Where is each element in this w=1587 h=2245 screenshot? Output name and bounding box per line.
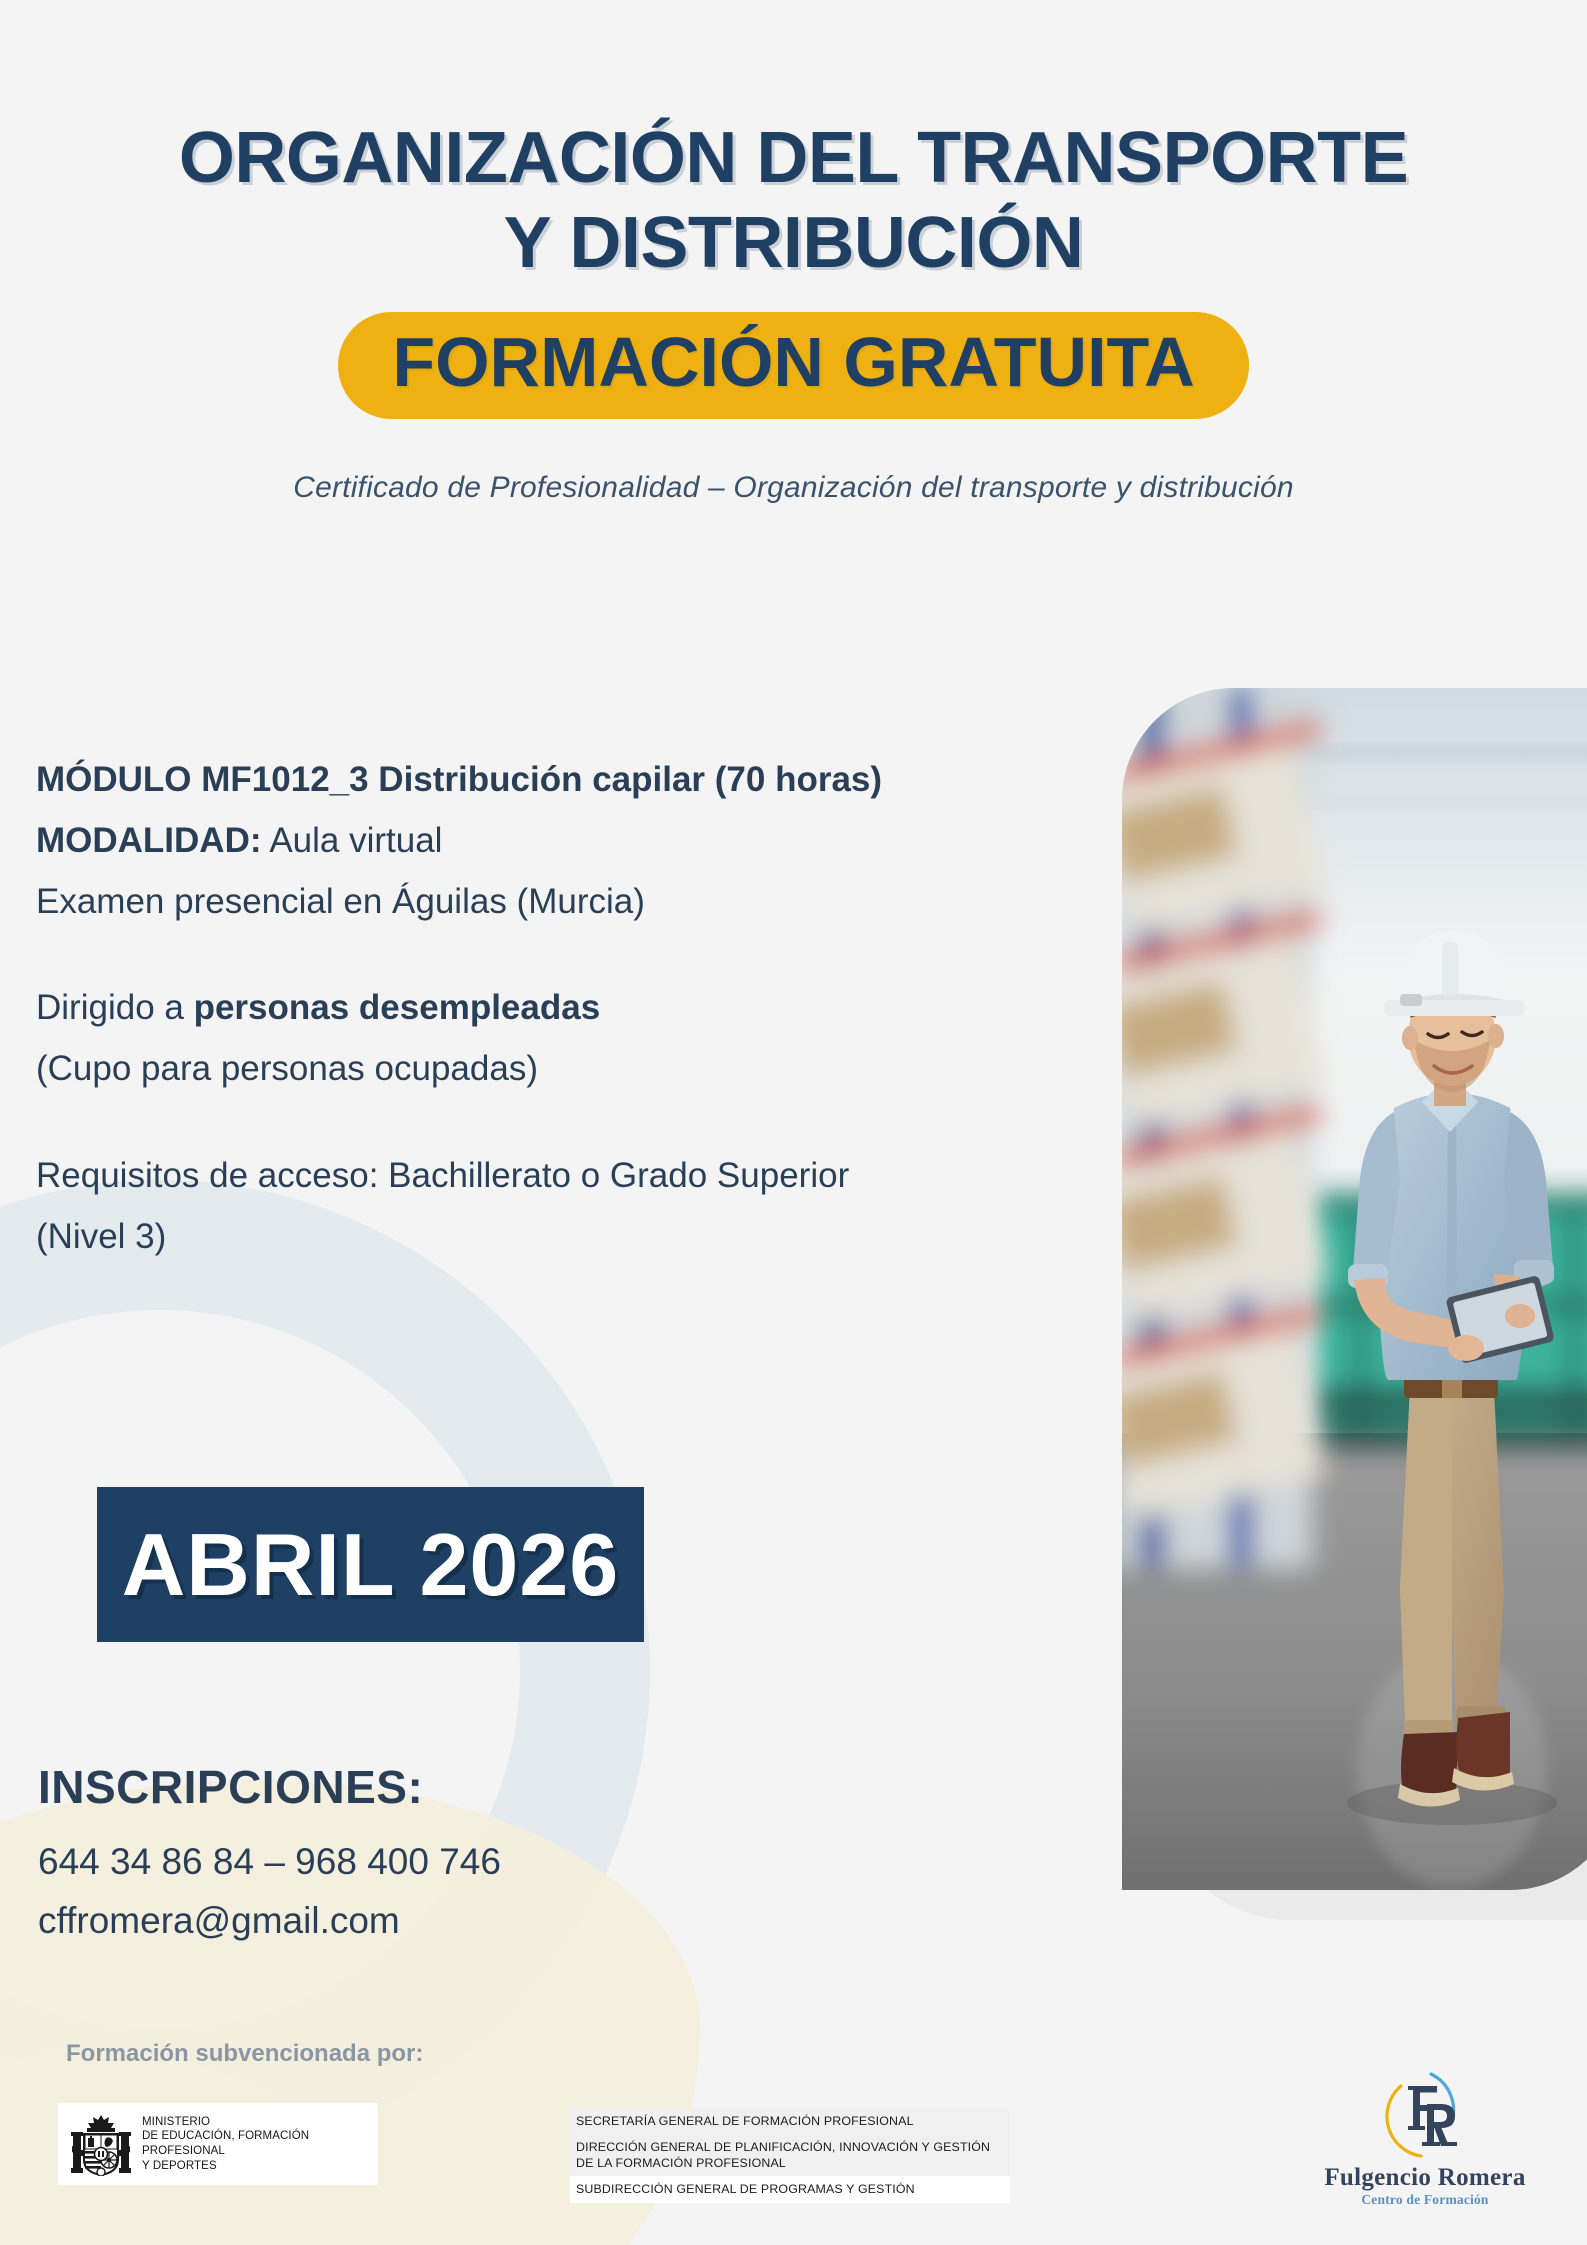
secretariat-line: SUBDIRECCIÓN GENERAL DE PROGRAMAS Y GEST… — [570, 2176, 1010, 2202]
page-title: ORGANIZACIÓN DEL TRANSPORTE Y DISTRIBUCI… — [0, 0, 1587, 286]
enrollment-section: INSCRIPCIONES: 644 34 86 84 – 968 400 74… — [38, 1760, 938, 1954]
logo-tagline: Centro de Formación — [1300, 2192, 1550, 2208]
modality-line: MODALIDAD: Aula virtual — [36, 816, 1096, 867]
secretariat-line: DIRECCIÓN GENERAL DE PLANIFICACIÓN, INNO… — [570, 2134, 1010, 2176]
audience-note: (Cupo para personas ocupadas) — [36, 1044, 1096, 1095]
audience-prefix: Dirigido a — [36, 988, 194, 1027]
course-details: MÓDULO MF1012_3 Distribución capilar (70… — [36, 755, 1096, 1278]
logo-company-name: Fulgencio Romera — [1300, 2164, 1550, 2192]
photo-illustration — [1122, 688, 1587, 1890]
exam-line: Examen presencial en Águilas (Murcia) — [36, 877, 1096, 928]
free-training-badge-wrap: FORMACIÓN GRATUITA — [0, 312, 1587, 419]
secretariat-line: SECRETARÍA GENERAL DE FORMACIÓN PROFESIO… — [570, 2108, 1010, 2134]
phone-numbers[interactable]: 644 34 86 84 – 968 400 746 — [38, 1836, 938, 1887]
fr-monogram-icon — [1365, 2070, 1485, 2162]
poster-header: ORGANIZACIÓN DEL TRANSPORTE Y DISTRIBUCI… — [0, 0, 1587, 505]
audience-line: Dirigido a personas desempleadas — [36, 983, 1096, 1034]
free-training-badge: FORMACIÓN GRATUITA — [338, 312, 1248, 419]
modality-value: Aula virtual — [262, 821, 443, 860]
secretariat-block: SECRETARÍA GENERAL DE FORMACIÓN PROFESIO… — [570, 2108, 1010, 2203]
email-address[interactable]: cffromera@gmail.com — [38, 1895, 938, 1946]
modality-label: MODALIDAD: — [36, 821, 262, 860]
decorative-blue-ring — [0, 1180, 650, 2160]
warehouse-worker-photo — [1122, 688, 1587, 1890]
start-date-text: ABRIL 2026 — [122, 1514, 619, 1616]
ministry-logo: MINISTERIO DE EDUCACIÓN, FORMACIÓN PROFE… — [58, 2103, 378, 2185]
module-line: MÓDULO MF1012_3 Distribución capilar (70… — [36, 755, 1096, 806]
audience-highlight: personas desempleadas — [194, 988, 601, 1027]
enrollment-heading: INSCRIPCIONES: — [38, 1760, 938, 1814]
spain-coat-of-arms-icon — [70, 2112, 132, 2176]
poster: ORGANIZACIÓN DEL TRANSPORTE Y DISTRIBUCI… — [0, 0, 1587, 2245]
ministry-name: MINISTERIO DE EDUCACIÓN, FORMACIÓN PROFE… — [142, 2115, 378, 2174]
requirements-line: Requisitos de acceso: Bachillerato o Gra… — [36, 1151, 1096, 1202]
start-date-banner: ABRIL 2026 — [97, 1487, 644, 1642]
module-label: MÓDULO MF1012_3 Distribución capilar (70… — [36, 760, 882, 799]
sponsor-note: Formación subvencionada por: — [66, 2040, 423, 2068]
fulgencio-romera-logo: Fulgencio Romera Centro de Formación — [1300, 2070, 1550, 2208]
requirements-level: (Nivel 3) — [36, 1212, 1096, 1263]
certificate-subtitle: Certificado de Profesionalidad – Organiz… — [0, 471, 1587, 505]
